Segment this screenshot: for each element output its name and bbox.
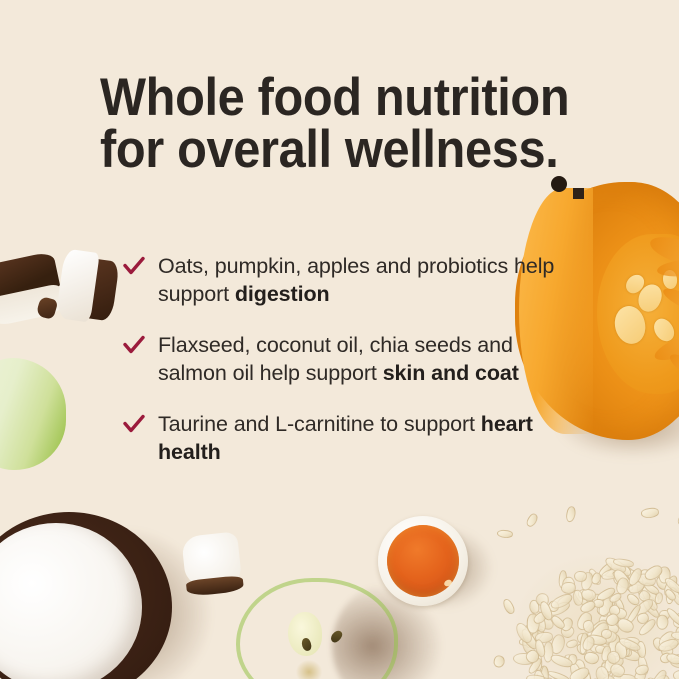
check-icon: [123, 256, 145, 276]
oat-flake: [492, 654, 505, 668]
oat-flake: [497, 529, 514, 538]
marketing-card: Whole food nutrition for overall wellnes…: [0, 0, 679, 679]
coconut-chunk-second: [55, 248, 120, 325]
benefits-list: Oats, pumpkin, apples and probiotics hel…: [122, 252, 567, 466]
check-icon: [123, 414, 145, 434]
coconut-half-image: [0, 512, 172, 679]
benefit-text: Oats, pumpkin, apples and probiotics hel…: [158, 254, 554, 306]
oat-flake: [641, 507, 660, 518]
apple-half-image: [236, 578, 398, 679]
apple-wedge-body: [0, 358, 66, 470]
oats-pile-image: [491, 506, 679, 679]
check-icon: [123, 335, 145, 355]
apple-core-fibers: [296, 660, 322, 679]
list-item: Taurine and L-carnitine to support heart…: [122, 410, 567, 467]
oil-bowl-image: [378, 516, 468, 606]
list-item: Oats, pumpkin, apples and probiotics hel…: [122, 252, 567, 309]
stray-speck-square: [573, 188, 584, 199]
benefit-emphasis: skin and coat: [383, 361, 519, 385]
apple-wedge-image: [0, 358, 66, 470]
list-item: Flaxseed, coconut oil, chia seeds and sa…: [122, 331, 567, 388]
oat-flake: [525, 512, 539, 528]
oat-flake: [565, 506, 577, 523]
oat-flake: [673, 669, 679, 679]
page-title: Whole food nutrition for overall wellnes…: [100, 72, 578, 177]
oat-flake: [675, 510, 679, 528]
benefit-text: Taurine and L-carnitine to support: [158, 412, 481, 436]
benefit-emphasis: digestion: [235, 282, 330, 306]
